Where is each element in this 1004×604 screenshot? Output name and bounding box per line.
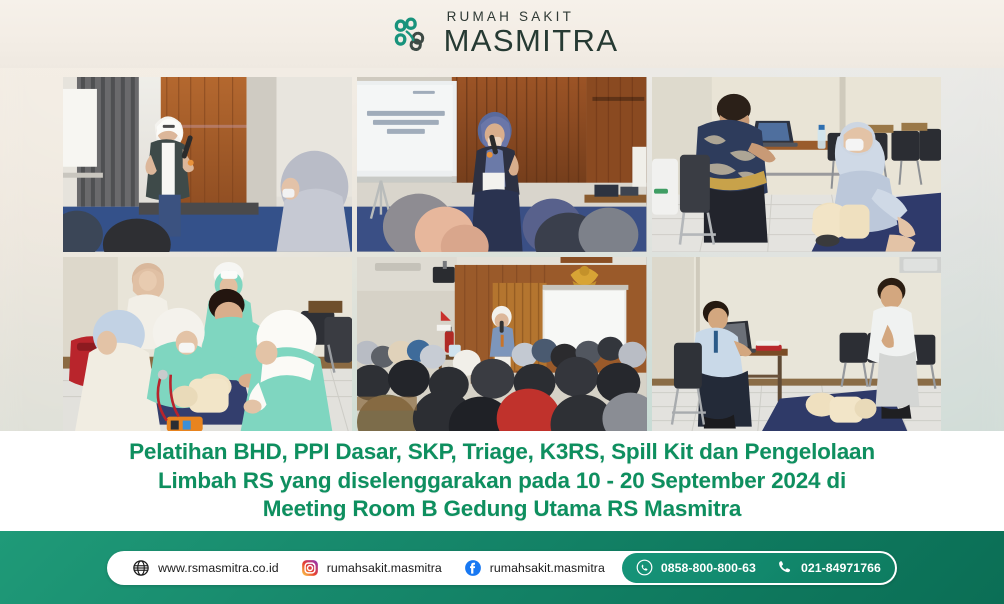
brand-name: MASMITRA <box>444 25 619 58</box>
facebook-icon <box>464 559 482 577</box>
instagram-icon <box>301 559 319 577</box>
contact-facebook[interactable]: rumahsakit.masmitra <box>453 559 616 577</box>
gallery-photo-5 <box>357 257 646 432</box>
contact-website[interactable]: www.rsmasmitra.co.id <box>121 559 290 577</box>
brand-kicker: RUMAH SAKIT <box>444 10 619 24</box>
gallery-photo-2 <box>357 77 646 252</box>
brand-logo: RUMAH SAKIT MASMITRA <box>386 10 619 58</box>
header-bar: RUMAH SAKIT MASMITRA <box>0 0 1004 68</box>
photo-speaker-microphone-wood-wall <box>63 77 352 252</box>
contact-instagram[interactable]: rumahsakit.masmitra <box>290 559 453 577</box>
photo-cpr-assessment-laptop-examiner <box>652 77 941 252</box>
title-band: Pelatihan BHD, PPI Dasar, SKP, Triage, K… <box>0 431 1004 531</box>
contact-instagram-label: rumahsakit.masmitra <box>327 561 442 575</box>
whatsapp-icon <box>636 559 653 576</box>
event-title-line-2: Limbah RS yang diselenggarakan pada 10 -… <box>129 467 875 495</box>
gallery-photo-4 <box>63 257 352 432</box>
event-title-line-3: Meeting Room B Gedung Utama RS Masmitra <box>129 495 875 523</box>
photo-gallery-grid <box>63 77 941 431</box>
globe-icon <box>132 559 150 577</box>
phone-group: 0858-800-800-63 021-84971766 <box>622 553 895 583</box>
contact-pill: www.rsmasmitra.co.id rumahsakit.masmi <box>107 551 897 585</box>
gallery-photo-1 <box>63 77 352 252</box>
contact-telephone-label: 021-84971766 <box>801 561 881 575</box>
event-title-line-1: Pelatihan BHD, PPI Dasar, SKP, Triage, K… <box>129 438 875 466</box>
contact-whatsapp-label: 0858-800-800-63 <box>661 561 756 575</box>
contact-whatsapp[interactable]: 0858-800-800-63 <box>626 559 766 576</box>
contact-website-label: www.rsmasmitra.co.id <box>158 561 279 575</box>
contact-telephone[interactable]: 021-84971766 <box>766 559 891 576</box>
photo-speaker-projector-screen-audience <box>357 77 646 252</box>
contact-facebook-label: rumahsakit.masmitra <box>490 561 605 575</box>
event-title: Pelatihan BHD, PPI Dasar, SKP, Triage, K… <box>129 438 875 523</box>
gallery-photo-6 <box>652 257 941 432</box>
photo-examiner-desk-standing-participant <box>652 257 941 432</box>
poster-root: RUMAH SAKIT MASMITRA <box>0 0 1004 604</box>
gallery-photo-3 <box>652 77 941 252</box>
footer-bar: www.rsmasmitra.co.id rumahsakit.masmi <box>0 531 1004 604</box>
telephone-icon <box>776 559 793 576</box>
four-petal-clover-icon <box>386 10 433 57</box>
photo-classroom-audience-garuda-emblem <box>357 257 646 432</box>
photo-group-cpr-practice-scrubs <box>63 257 352 432</box>
